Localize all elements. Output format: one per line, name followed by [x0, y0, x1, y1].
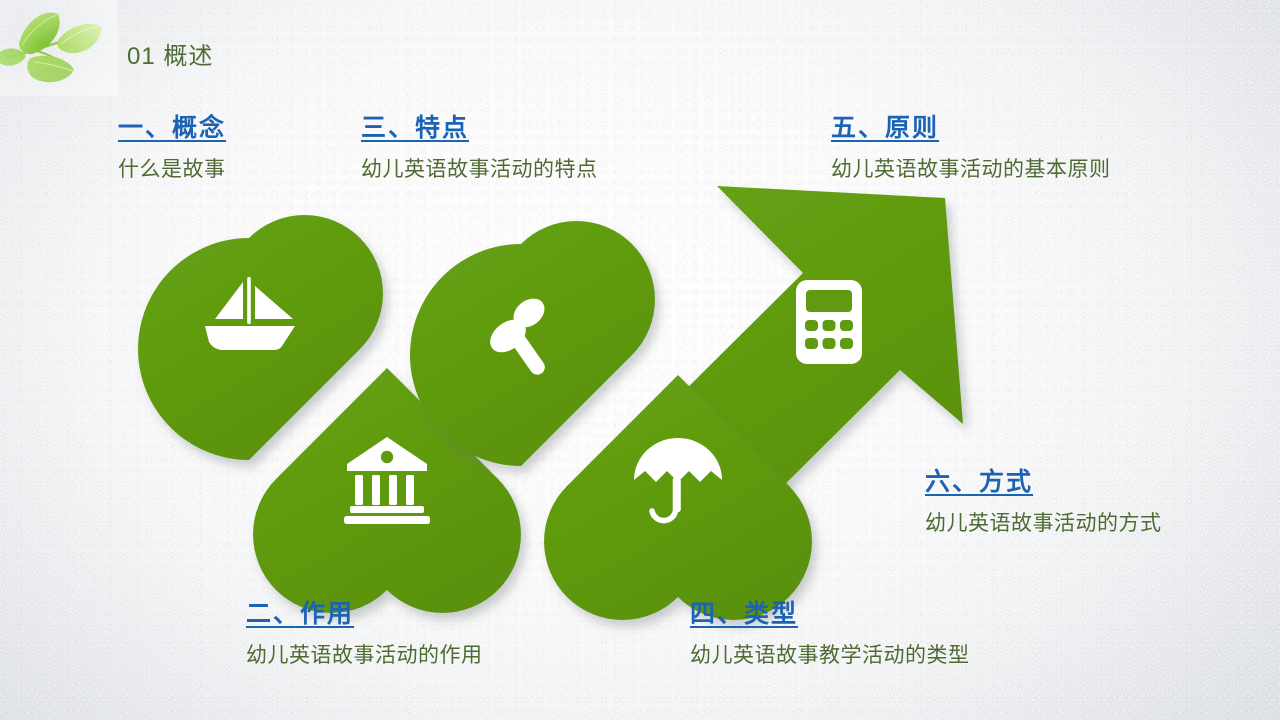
- callout-one[interactable]: 一、概念 什么是故事: [118, 108, 226, 183]
- node-five-hit-area[interactable]: [729, 219, 941, 431]
- callout-five-subtitle: 幼儿英语故事活动的基本原则: [831, 153, 1111, 183]
- callout-two-subtitle: 幼儿英语故事活动的作用: [246, 639, 483, 669]
- node-one-hit-area[interactable]: [143, 243, 355, 455]
- callout-six[interactable]: 六、方式 幼儿英语故事活动的方式: [925, 462, 1162, 537]
- callout-five[interactable]: 五、原则 幼儿英语故事活动的基本原则: [831, 108, 1111, 183]
- callout-three[interactable]: 三、特点 幼儿英语故事活动的特点: [361, 108, 598, 183]
- leaf-icon: [0, 0, 118, 96]
- slide-canvas: 01 概述: [0, 0, 1280, 720]
- callout-two-title: 二、作用: [246, 594, 483, 630]
- callout-one-subtitle: 什么是故事: [118, 153, 226, 183]
- callout-three-title: 三、特点: [361, 108, 598, 144]
- callout-six-title: 六、方式: [925, 462, 1162, 498]
- node-four-hit-area[interactable]: [572, 380, 784, 592]
- callout-four-subtitle: 幼儿英语故事教学活动的类型: [690, 639, 970, 669]
- callout-two[interactable]: 二、作用 幼儿英语故事活动的作用: [246, 594, 483, 669]
- callout-three-subtitle: 幼儿英语故事活动的特点: [361, 153, 598, 183]
- page-title: 01 概述: [127, 36, 213, 71]
- callout-six-subtitle: 幼儿英语故事活动的方式: [925, 507, 1162, 537]
- node-two-hit-area[interactable]: [281, 373, 493, 585]
- callout-one-title: 一、概念: [118, 108, 226, 144]
- callout-four-title: 四、类型: [690, 594, 970, 630]
- callout-five-title: 五、原则: [831, 108, 1111, 144]
- callout-four[interactable]: 四、类型 幼儿英语故事教学活动的类型: [690, 594, 970, 669]
- node-three-hit-area[interactable]: [415, 249, 627, 461]
